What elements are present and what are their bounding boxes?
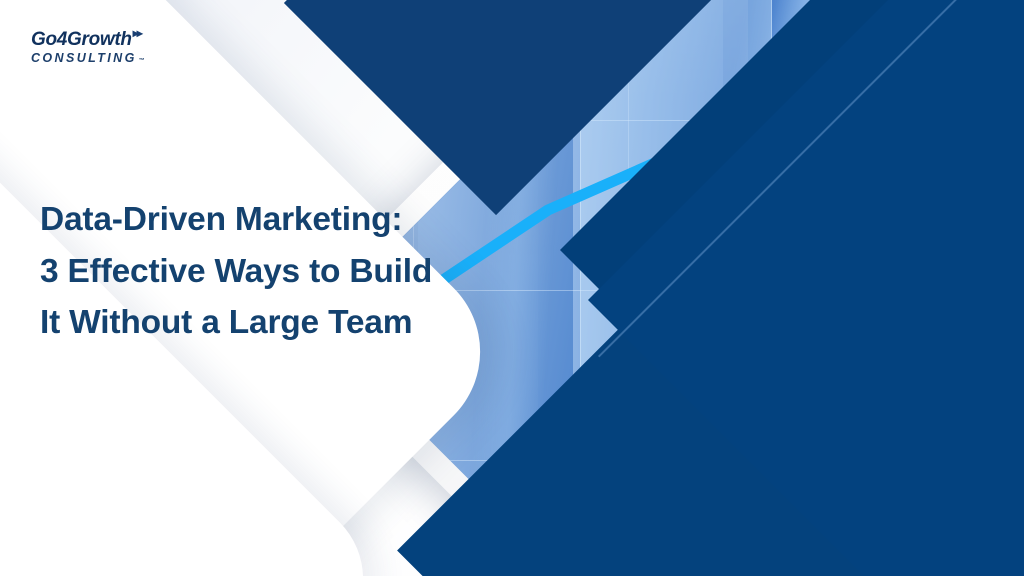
trademark-symbol: ™ xyxy=(139,58,145,64)
logo-secondary-text: CONSULTING xyxy=(31,52,137,65)
headline-line-3: It Without a Large Team xyxy=(40,297,560,348)
double-chevron-icon: ▸▸ xyxy=(133,27,141,39)
page-title: Data-Driven Marketing: 3 Effective Ways … xyxy=(40,194,560,348)
headline-line-1: Data-Driven Marketing: xyxy=(40,194,560,245)
headline-line-2: 3 Effective Ways to Build xyxy=(40,246,560,297)
brand-logo[interactable]: Go4Growth ▸▸ CONSULTING ™ xyxy=(31,30,145,65)
logo-secondary-row: CONSULTING ™ xyxy=(31,52,145,65)
logo-primary-row: Go4Growth ▸▸ xyxy=(31,30,145,49)
banner-canvas: Go4Growth ▸▸ CONSULTING ™ Data-Driven Ma… xyxy=(0,0,1024,576)
logo-primary-text: Go4Growth xyxy=(31,30,132,49)
